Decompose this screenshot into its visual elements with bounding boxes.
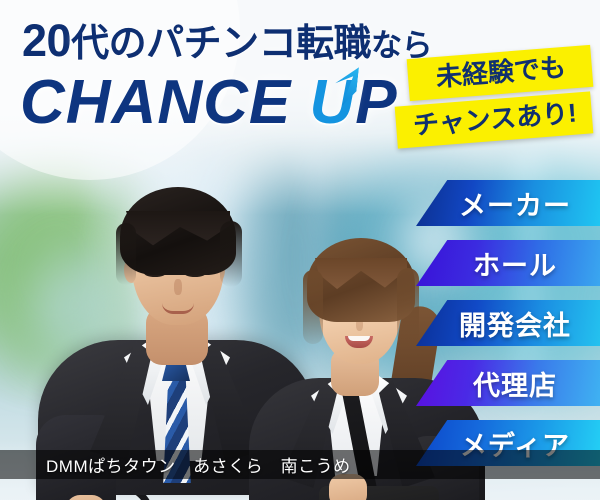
hair-side — [116, 223, 136, 285]
category-list: メーカー ホール 開発会社 代理店 メディア — [416, 180, 600, 480]
teeth — [348, 336, 370, 341]
caption-bar: DMMぱちタウン あさくら 南こうめ — [0, 450, 600, 479]
logo-chance-text: CHANCE — [20, 68, 291, 137]
category-label: 開発会社 — [445, 304, 571, 343]
category-label: ホール — [459, 244, 557, 283]
nose — [174, 279, 182, 295]
hair-side — [220, 221, 242, 287]
headline: 20代のパチンコ転職なら — [22, 18, 432, 63]
category-label: 代理店 — [459, 364, 557, 403]
category-button-agency[interactable]: 代理店 — [416, 360, 600, 406]
category-button-hall[interactable]: ホール — [416, 240, 600, 286]
logo-u-accent: U — [309, 72, 355, 134]
category-button-developer[interactable]: 開発会社 — [416, 300, 600, 346]
chance-up-logotype: CHANCE U P — [20, 72, 398, 134]
category-label: メーカー — [445, 184, 571, 223]
recruitment-banner: 20代のパチンコ転職なら CHANCE U P 未経験でも チャンスあり! メー… — [0, 0, 600, 500]
headline-mid: 代のパチンコ転職 — [71, 23, 371, 65]
category-button-maker[interactable]: メーカー — [416, 180, 600, 226]
logo-u-text: U — [309, 68, 355, 137]
logo-p-text: P — [355, 68, 397, 137]
hair-side — [303, 270, 323, 344]
headline-lead: 20 — [22, 15, 71, 66]
caption-text: DMMぱちタウン あさくら 南こうめ — [0, 452, 351, 477]
experience-badge: 未経験でも チャンスあり! — [396, 52, 592, 141]
